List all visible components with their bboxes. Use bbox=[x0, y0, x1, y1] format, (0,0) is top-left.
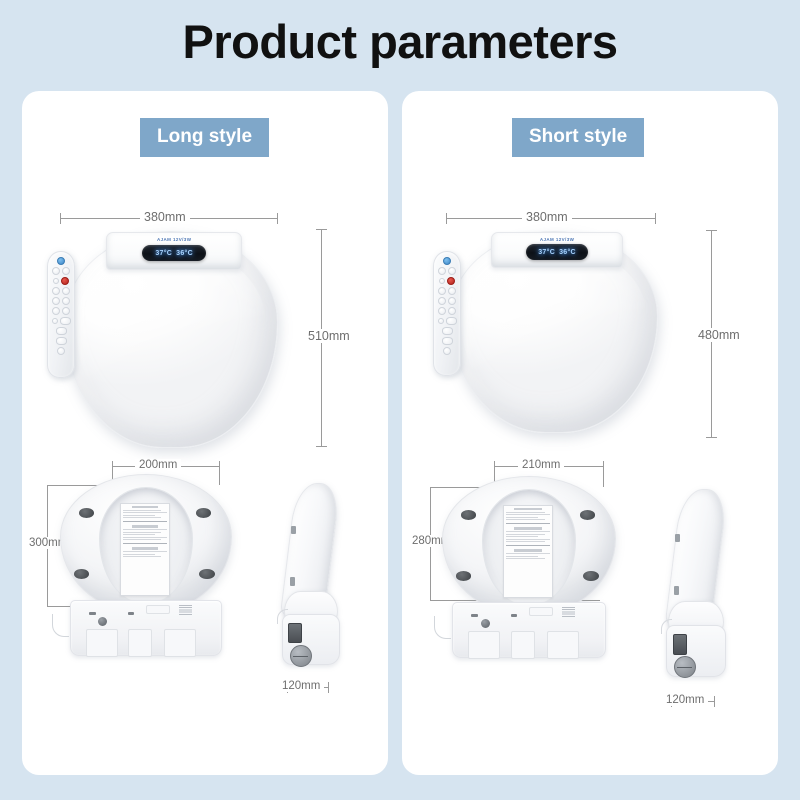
label-line bbox=[123, 529, 166, 530]
dim-tick-bottom-short bbox=[706, 437, 717, 438]
product-top-view-long: AJAM 12V/3W 37°C 36°C bbox=[64, 231, 276, 446]
panel-button[interactable] bbox=[438, 267, 446, 275]
base-unit-long bbox=[70, 600, 222, 656]
control-panel-long[interactable] bbox=[47, 251, 75, 378]
side-tab bbox=[675, 534, 680, 542]
lcd-value-right-short: 36°C bbox=[559, 249, 576, 256]
label-line bbox=[506, 556, 538, 557]
base-plate bbox=[86, 629, 118, 657]
label-line bbox=[506, 558, 545, 559]
side-tab bbox=[291, 526, 296, 534]
base-knob bbox=[98, 617, 107, 626]
label-line bbox=[506, 519, 545, 520]
bumper bbox=[580, 510, 595, 520]
base-unit-short bbox=[452, 602, 605, 658]
label-separator bbox=[506, 545, 550, 546]
label-separator bbox=[123, 543, 166, 544]
panel-button[interactable] bbox=[52, 297, 60, 305]
label-separator bbox=[506, 523, 550, 524]
label-line bbox=[123, 551, 166, 552]
label-line bbox=[123, 532, 161, 533]
side-tab bbox=[290, 577, 295, 586]
panel-button[interactable] bbox=[62, 297, 70, 305]
label-line bbox=[123, 534, 154, 535]
panel-button[interactable] bbox=[57, 347, 65, 355]
panel-button[interactable] bbox=[438, 307, 446, 315]
dim-tick-side-right-long bbox=[328, 682, 329, 693]
label-line bbox=[506, 536, 538, 537]
dim-label-side-short: 120mm bbox=[662, 694, 708, 706]
panel-button[interactable] bbox=[448, 267, 456, 275]
dim-tick-top-long bbox=[316, 229, 327, 230]
label-heading bbox=[132, 547, 159, 550]
dim-label-top-height-short: 480mm bbox=[694, 328, 744, 342]
dim-label-bot-width-long: 200mm bbox=[135, 459, 181, 471]
dim-tick-right-long bbox=[277, 213, 278, 224]
side-dial-long bbox=[290, 645, 312, 667]
stop-button-short[interactable] bbox=[447, 277, 455, 285]
base-plate bbox=[128, 629, 152, 657]
page-title: Product parameters bbox=[0, 14, 800, 69]
seat-tank-short: AJAM 12V/3W 37°C 36°C bbox=[491, 232, 623, 268]
base-plate bbox=[146, 605, 170, 614]
product-side-view-long bbox=[280, 483, 340, 663]
label-line bbox=[123, 537, 166, 538]
panel-card-short-style: Short style 380mm 480mm AJAM 12V/3W 37°C… bbox=[402, 91, 778, 775]
label-heading bbox=[132, 525, 159, 528]
label-line bbox=[123, 556, 161, 557]
base-plate bbox=[547, 631, 579, 659]
dim-tick-top-short bbox=[706, 230, 717, 231]
panel-indicator bbox=[53, 278, 59, 284]
panel-button-wide[interactable] bbox=[446, 317, 457, 325]
instruction-label-long bbox=[120, 503, 169, 597]
brand-mark-short: AJAM 12V/3W bbox=[540, 237, 574, 242]
style-badge-long: Long style bbox=[140, 118, 269, 157]
power-button-long[interactable] bbox=[57, 257, 65, 265]
dim-label-top-height-long: 510mm bbox=[304, 329, 354, 343]
panel-button[interactable] bbox=[52, 307, 60, 315]
panel-button[interactable] bbox=[62, 307, 70, 315]
product-top-view-short: AJAM 12V/3W 37°C 36°C bbox=[450, 231, 656, 431]
base-vent bbox=[179, 605, 192, 615]
dim-tick-left-long bbox=[60, 213, 61, 224]
dim-label-side-long: 120mm bbox=[278, 680, 324, 692]
label-line bbox=[506, 512, 545, 513]
panel-button[interactable] bbox=[438, 297, 446, 305]
label-line bbox=[506, 514, 550, 515]
side-hose-short bbox=[661, 619, 672, 634]
label-separator bbox=[123, 521, 166, 522]
label-line bbox=[506, 541, 545, 542]
instruction-label-short bbox=[503, 505, 553, 599]
label-heading bbox=[514, 527, 541, 530]
side-tab bbox=[674, 586, 679, 595]
lcd-value-right-long: 36°C bbox=[176, 250, 193, 257]
label-line bbox=[123, 510, 161, 511]
bumper bbox=[79, 508, 94, 518]
panel-button[interactable] bbox=[443, 347, 451, 355]
panel-button-wide[interactable] bbox=[56, 337, 67, 345]
label-line bbox=[123, 517, 161, 518]
dim-label-top-width-long: 380mm bbox=[140, 210, 190, 224]
panel-button-wide[interactable] bbox=[56, 327, 67, 335]
panel-button[interactable] bbox=[62, 287, 70, 295]
label-heading bbox=[514, 549, 541, 552]
dim-tick-right-short bbox=[655, 213, 656, 224]
panel-button[interactable] bbox=[52, 267, 60, 275]
panel-indicator bbox=[439, 278, 445, 284]
bumper bbox=[583, 571, 598, 581]
product-side-view-short bbox=[664, 489, 726, 675]
base-port bbox=[471, 614, 478, 617]
panel-button[interactable] bbox=[438, 287, 446, 295]
label-heading bbox=[132, 506, 159, 509]
label-heading bbox=[514, 508, 541, 511]
side-hose-long bbox=[277, 609, 288, 624]
dim-tick-bottom-long bbox=[316, 446, 327, 447]
base-port bbox=[511, 614, 517, 617]
base-port bbox=[128, 612, 134, 615]
panel-button[interactable] bbox=[448, 307, 456, 315]
label-line bbox=[506, 539, 550, 540]
stop-button-long[interactable] bbox=[61, 277, 69, 285]
water-hose-long bbox=[52, 614, 69, 637]
base-vent bbox=[562, 607, 575, 617]
panel-button-wide[interactable] bbox=[442, 337, 453, 345]
label-line bbox=[123, 554, 154, 555]
label-line bbox=[506, 517, 538, 518]
product-bottom-view-long bbox=[60, 474, 230, 654]
lcd-value-left-long: 37°C bbox=[155, 250, 172, 257]
panel-button[interactable] bbox=[448, 297, 456, 305]
side-display-short bbox=[673, 634, 687, 655]
seat-tank-long: AJAM 12V/3W 37°C 36°C bbox=[106, 232, 242, 270]
lcd-display-short: 37°C 36°C bbox=[526, 244, 588, 260]
label-line bbox=[123, 515, 154, 516]
panel-card-long-style: Long style 380mm 510mm AJAM 12V/3W 37°C … bbox=[22, 91, 388, 775]
dim-tick-side-right-short bbox=[714, 696, 715, 707]
base-knob bbox=[481, 619, 490, 628]
dim-label-bot-width-short: 210mm bbox=[518, 459, 564, 471]
base-plate bbox=[468, 631, 500, 659]
base-plate bbox=[164, 629, 196, 657]
brand-mark-long: AJAM 12V/3W bbox=[157, 237, 191, 242]
panel-button-wide[interactable] bbox=[442, 327, 453, 335]
lcd-value-left-short: 37°C bbox=[538, 249, 555, 256]
dim-label-top-width-short: 380mm bbox=[522, 210, 572, 224]
base-port bbox=[89, 612, 96, 615]
label-line bbox=[506, 534, 545, 535]
style-badge-short: Short style bbox=[512, 118, 644, 157]
panel-indicator bbox=[438, 318, 444, 324]
panel-button[interactable] bbox=[62, 267, 70, 275]
label-line bbox=[506, 553, 550, 554]
lcd-display-long: 37°C 36°C bbox=[142, 245, 206, 261]
panel-button[interactable] bbox=[448, 287, 456, 295]
water-hose-short bbox=[434, 616, 451, 639]
control-panel-short[interactable] bbox=[433, 251, 461, 376]
base-plate bbox=[511, 631, 535, 659]
label-line bbox=[506, 531, 550, 532]
panel-indicator bbox=[52, 318, 58, 324]
panel-button[interactable] bbox=[52, 287, 60, 295]
side-display-long bbox=[288, 623, 302, 643]
dim-tick-left-short bbox=[446, 213, 447, 224]
product-bottom-view-short bbox=[442, 476, 614, 656]
panel-button-wide[interactable] bbox=[60, 317, 71, 325]
label-line bbox=[123, 512, 166, 513]
base-plate bbox=[529, 607, 553, 616]
label-line bbox=[123, 539, 161, 540]
power-button-short[interactable] bbox=[443, 257, 451, 265]
